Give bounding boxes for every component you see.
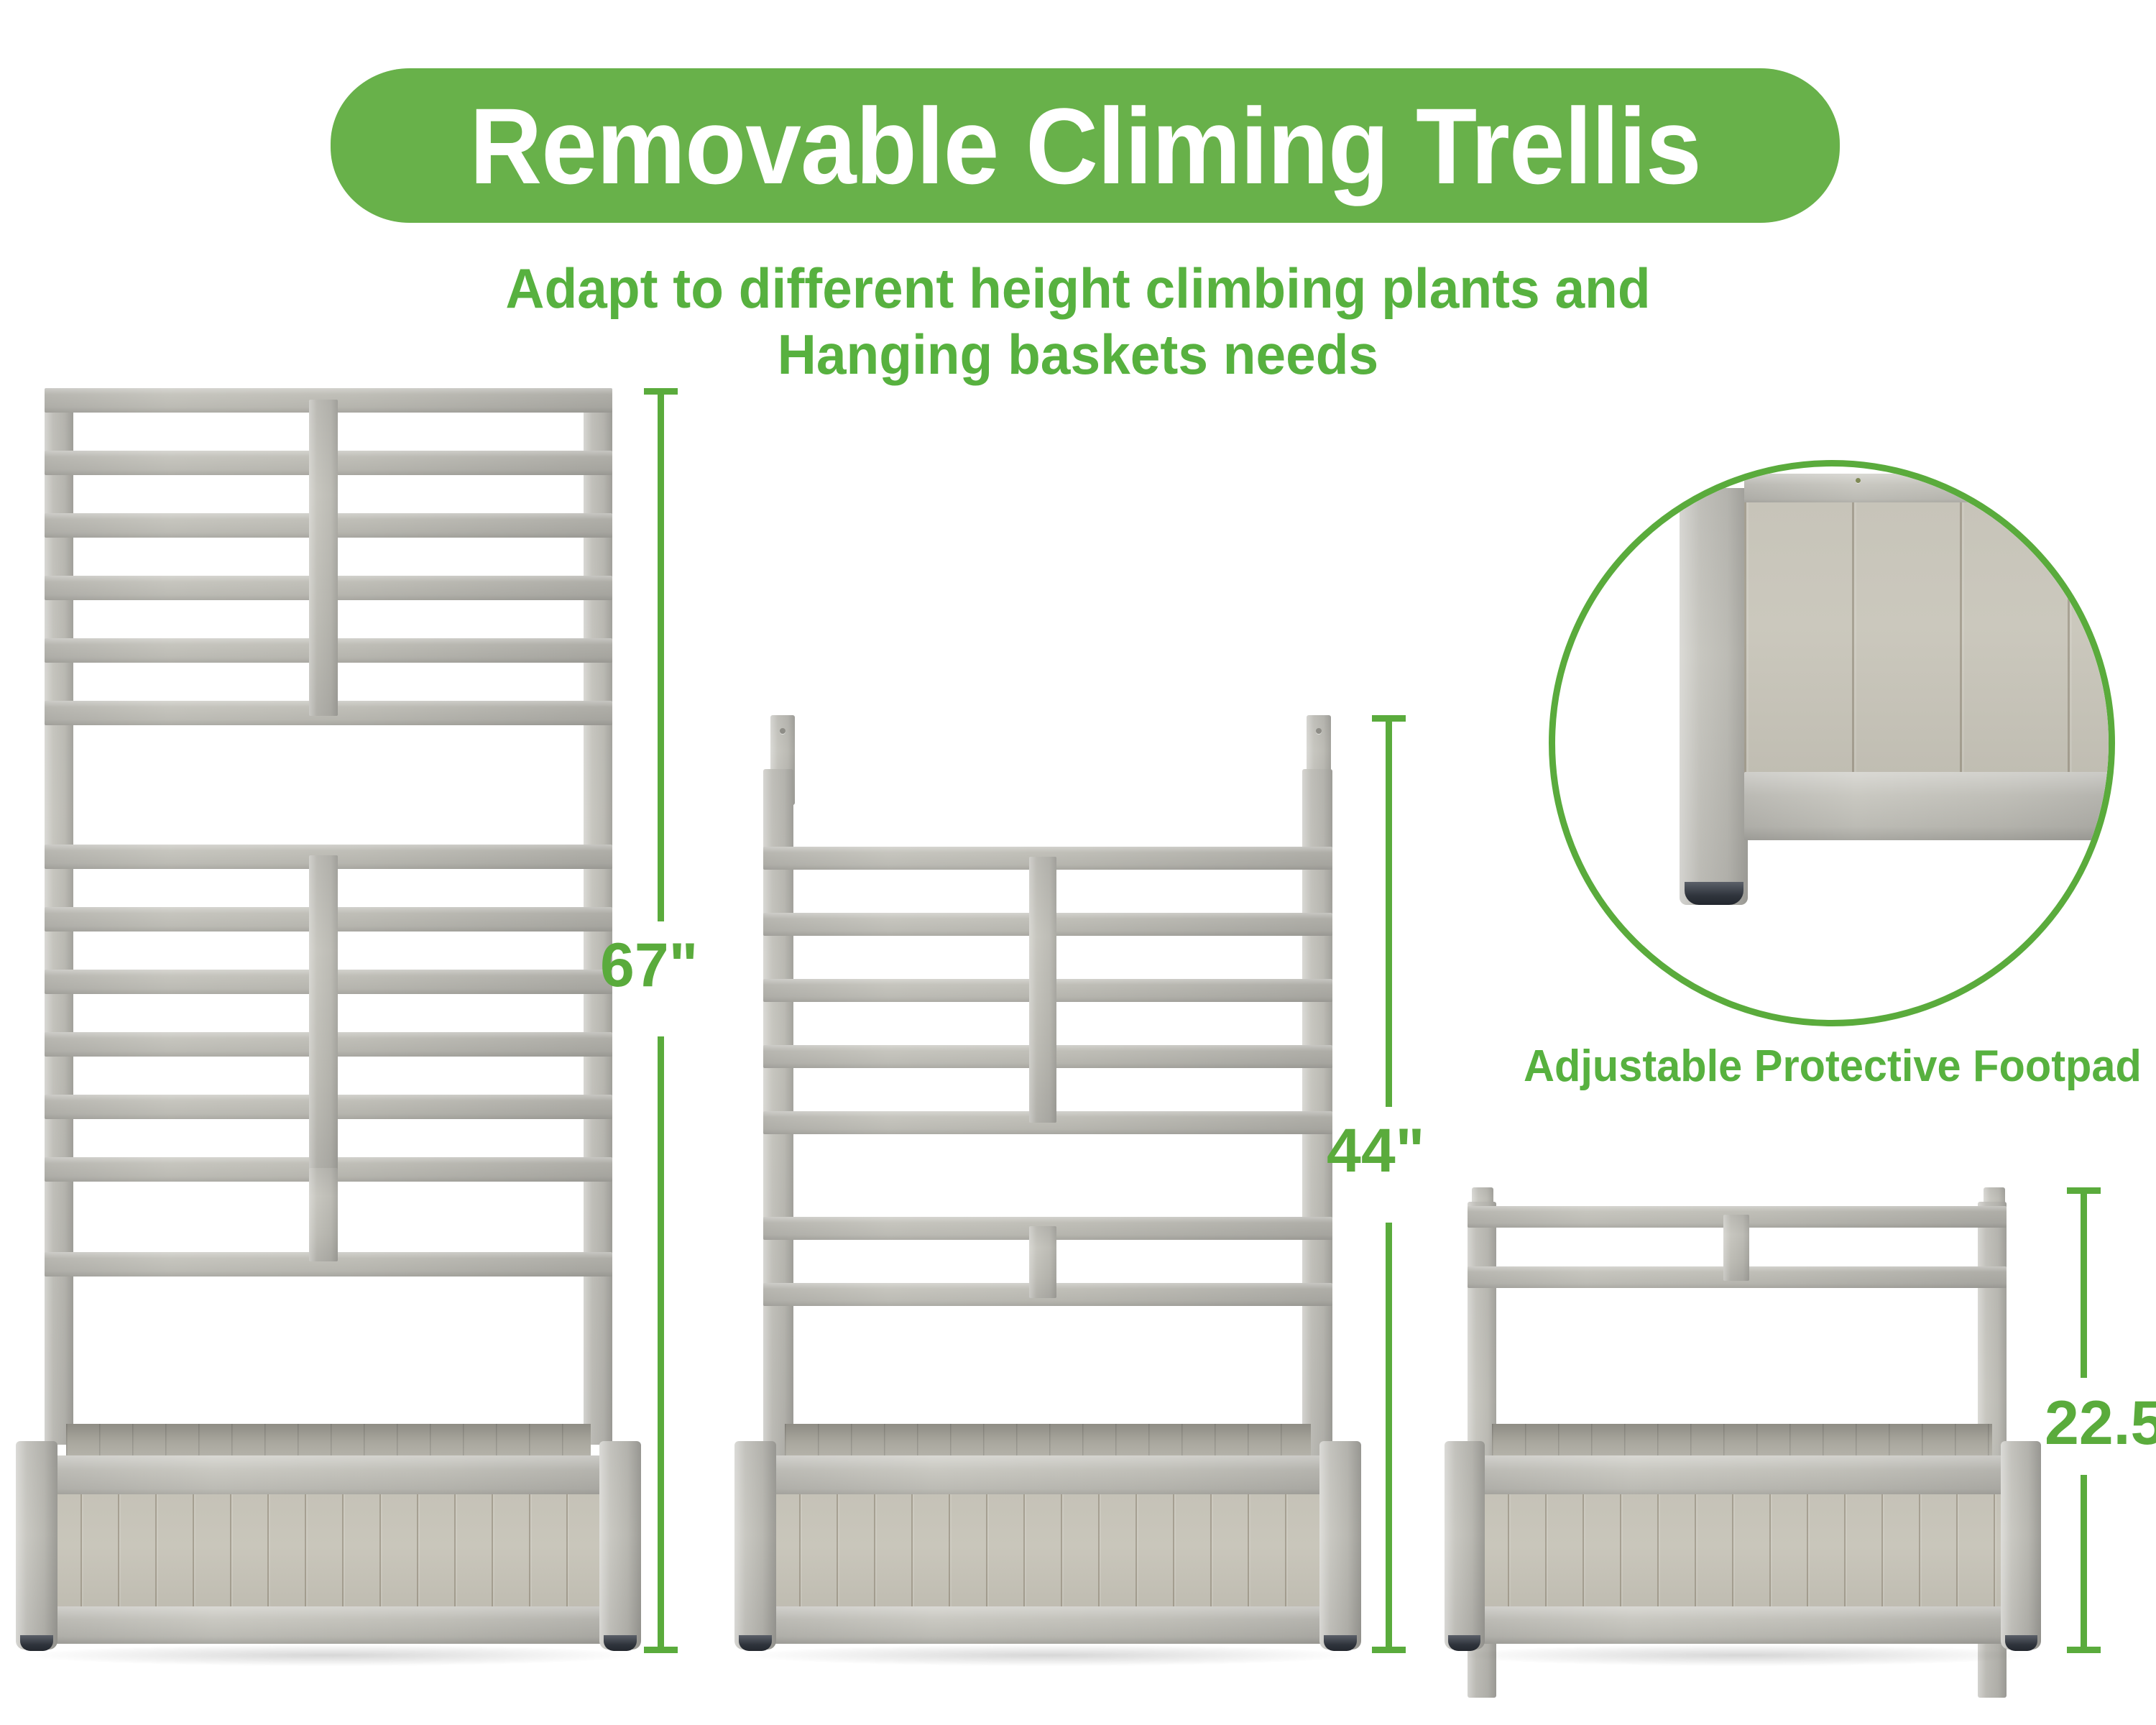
planter-corner-post-left [16,1441,57,1650]
trellis-vertical-connector [1029,1226,1056,1298]
trellis-vertical-connector [309,855,338,1172]
drop-shadow [747,1644,1351,1666]
footpad-right [1324,1635,1357,1651]
page-title: Removable Climing Trellis [469,92,1700,200]
dimension-line-lower [2081,1475,2087,1653]
dimension-cap-bottom [1372,1647,1406,1653]
dimension-line-upper [658,388,664,921]
planter-corner-post-left [734,1441,776,1650]
planter-box-front-panel [762,1494,1335,1609]
dimension-line-lower [1386,1223,1392,1653]
footpad-right [604,1635,637,1651]
dimension-label-67: 67" [600,934,698,996]
trellis-vertical-connector [309,400,338,716]
footpad-detail-caption: Adjustable Protective Footpad [1524,1041,2142,1092]
footpad-detail-circle [1549,460,2115,1026]
detail-corner-post [1680,488,1748,905]
footpad-right [2005,1635,2037,1651]
dimension-67: 67" [658,388,664,1653]
subtitle: Adapt to different height climbing plant… [43,255,2113,387]
detail-box-bottom-rail [1744,772,2115,840]
planter-corner-post-right [2001,1441,2041,1650]
trellis-vertical-connector [1723,1215,1749,1281]
planter-box-top-rail [1470,1455,2015,1497]
footpad-left [739,1635,772,1651]
screw-hole-icon [1856,478,1861,483]
planter-box-bottom-rail [762,1606,1335,1644]
title-banner: Removable Climing Trellis [331,68,1840,223]
planter-box-front-panel [43,1494,614,1609]
dimension-label-44: 44" [1327,1120,1424,1182]
drop-shadow [1457,1644,2032,1666]
dimension-label-22-5: 22.5" [2045,1392,2156,1454]
dimension-44: 44" [1386,715,1392,1653]
planter-corner-post-left [1445,1441,1485,1650]
planter-box [734,1420,1361,1657]
subtitle-line-1: Adapt to different height climbing plant… [43,255,2113,321]
footpad-left [1448,1635,1480,1651]
planter-corner-post-right [599,1441,641,1650]
trellis-vertical-connector [309,1168,338,1261]
detail-footpad [1685,882,1743,905]
dimension-22-5: 22.5" [2081,1187,2087,1653]
dimension-cap-bottom [644,1647,678,1653]
footpad-left [20,1635,53,1651]
planter-corner-post-right [1319,1441,1361,1650]
subtitle-line-2: Hanging baskets needs [43,321,2113,387]
detail-box-panel [1744,502,2115,776]
trellis-vertical-connector [1029,857,1056,1123]
planter-box-inner-slats [1492,1424,1992,1457]
dimension-line-upper [2081,1187,2087,1378]
planter-box [16,1420,641,1657]
dimension-line-lower [658,1036,664,1653]
planter-box-top-rail [762,1455,1335,1497]
dimension-cap-bottom [2067,1647,2101,1653]
detail-box-top-rail [1744,474,2115,505]
planter-box-inner-slats [785,1424,1311,1457]
screw-hole-icon [780,728,786,734]
infographic-canvas: Removable Climing Trellis Adapt to diffe… [0,0,2156,1725]
planter-box-top-rail [43,1455,614,1497]
planter-box-bottom-rail [1470,1606,2015,1644]
planter-box-front-panel [1470,1494,2015,1609]
dimension-line-upper [1386,715,1392,1107]
planter-box [1445,1420,2041,1657]
screw-hole-icon [1316,728,1322,734]
planter-box-inner-slats [66,1424,591,1457]
drop-shadow [29,1644,632,1666]
planter-box-bottom-rail [43,1606,614,1644]
